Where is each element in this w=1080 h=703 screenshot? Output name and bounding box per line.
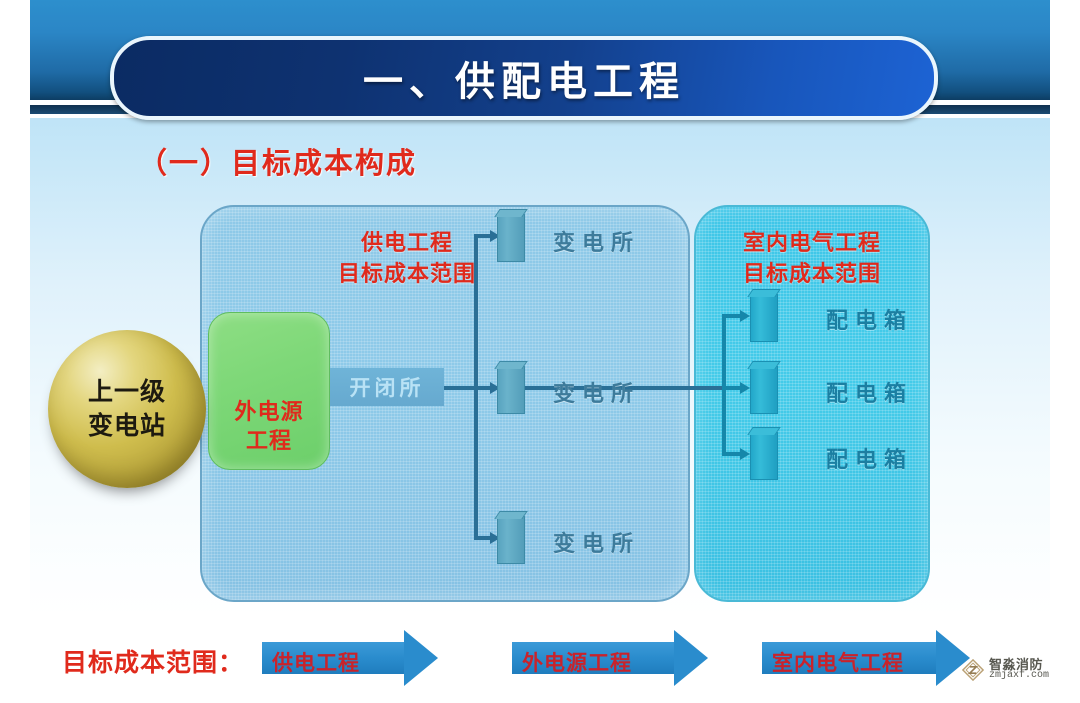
panel-left-title-line2: 目标成本范围 [164,258,650,289]
external-power-line2: 工程 [234,426,303,455]
wire-right-arrow-middle [740,382,750,394]
panel-right-title-line2: 目标成本范围 [696,258,928,289]
footer-arrow-2-head [674,630,708,686]
upstream-substation-node: 上一级 变电站 [48,330,206,488]
substation-cabinet-1 [497,214,525,262]
distribution-box-label-1: 配电箱 [826,303,913,335]
substation-label-3: 变电所 [553,526,640,558]
panel-right-title-line1: 室内电气工程 [696,227,928,258]
diamond-logo-icon [962,659,984,681]
upstream-substation-line1: 上一级 [88,375,166,409]
switching-station-node: 开闭所 [330,368,444,406]
slide-root: 一、供配电工程 （一）目标成本构成 供电工程 目标成本范围 室内电气工程 目标成… [0,0,1080,703]
switching-station-label: 开闭所 [350,372,425,402]
substation-label-1: 变电所 [553,225,640,257]
distribution-box-label-2: 配电箱 [826,376,913,408]
substation-cabinet-2 [497,366,525,414]
footer-label: 目标成本范围： [62,643,244,679]
external-power-project-text: 外电源 工程 [234,397,303,455]
external-power-line1: 外电源 [234,397,303,426]
page-title: 一、供配电工程 [363,49,685,107]
footer-arrow-2: 外电源工程 [512,630,708,686]
distribution-box-3 [750,432,778,480]
watermark-site: zmjaxf.com [989,671,1049,681]
footer-arrow-1-head [404,630,438,686]
footer-arrow-1: 供电工程 [262,630,438,686]
section-subtitle: （一）目标成本构成 [138,140,417,182]
substation-label-2: 变电所 [553,376,640,408]
wire-right-arrow-bottom [740,448,750,460]
slide-title-pill: 一、供配电工程 [110,36,938,120]
panel-right-title: 室内电气工程 目标成本范围 [696,227,928,289]
watermark: 智淼消防 zmjaxf.com [962,658,1049,681]
substation-cabinet-3 [497,516,525,564]
upstream-substation-line2: 变电站 [88,409,166,443]
wire-right-bus-vertical [722,314,726,456]
footer-arrow-2-label: 外电源工程 [522,647,632,677]
footer-arrow-3-label: 室内电气工程 [772,647,904,677]
distribution-box-2 [750,366,778,414]
footer-arrow-3: 室内电气工程 [762,630,970,686]
wire-right-arrow-top [740,310,750,322]
distribution-box-1 [750,294,778,342]
distribution-box-label-3: 配电箱 [826,442,913,474]
upstream-substation-text: 上一级 变电站 [88,375,166,443]
watermark-text: 智淼消防 zmjaxf.com [989,658,1049,681]
footer-arrow-1-label: 供电工程 [272,647,360,677]
external-power-project-box: 外电源 工程 [208,312,330,470]
